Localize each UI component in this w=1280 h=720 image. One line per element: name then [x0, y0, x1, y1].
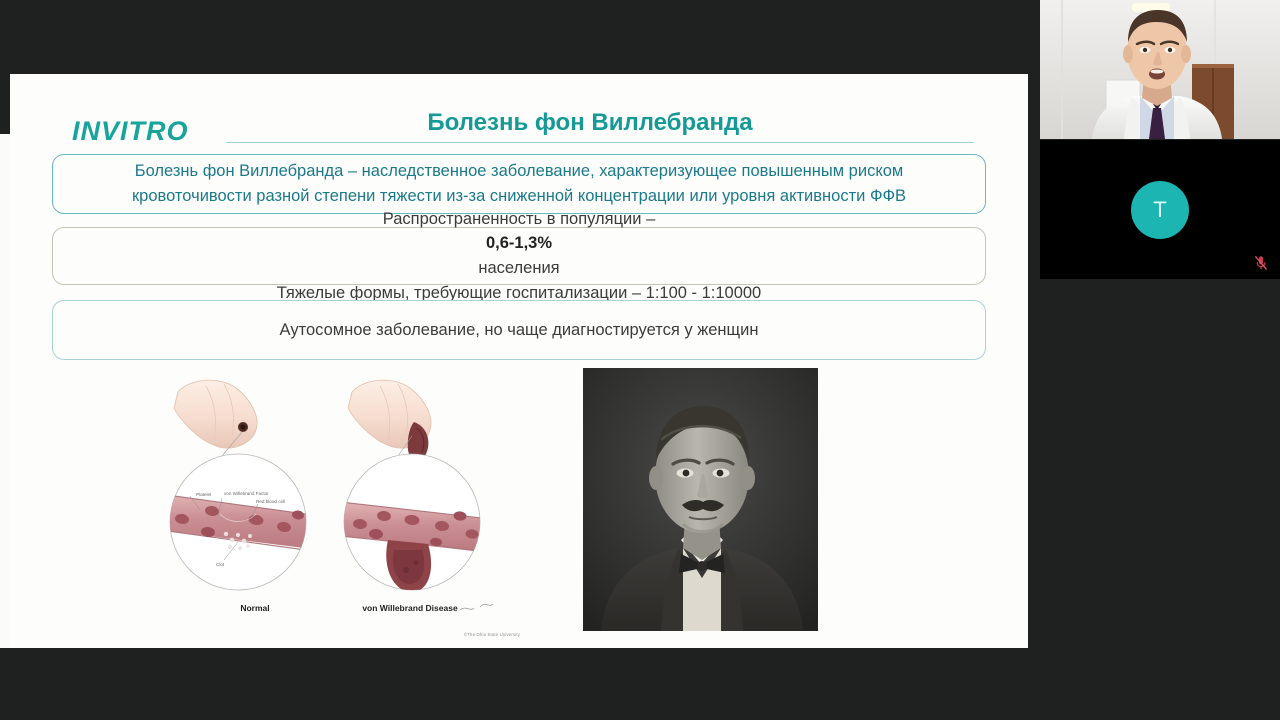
vwd-finger-graphic	[348, 380, 431, 461]
avatar-initial: T	[1153, 197, 1166, 223]
illustration-caption-vwd: von Willebrand Disease	[330, 603, 490, 613]
normal-vessel-closeup	[160, 454, 320, 590]
normal-finger-graphic	[174, 380, 257, 456]
vwd-illustration-svg: Platelet von Willebrand Factor Red blood…	[160, 374, 520, 639]
video-panel: T	[1040, 0, 1280, 280]
definition-line-1: Болезнь фон Виллебранда – наследственное…	[132, 159, 906, 184]
avatar: T	[1131, 181, 1189, 239]
slide-header: INVITRO Болезнь фон Виллебранда	[10, 74, 1028, 144]
vwd-vessel-closeup	[340, 454, 500, 592]
prevalence-value: 0,6-1,3%	[486, 234, 552, 252]
video-tile-participant[interactable]: T	[1040, 140, 1280, 279]
label-clot: Clot	[216, 562, 225, 567]
autosomal-line-1: Аутосомное заболевание, но чаще диагност…	[280, 318, 759, 343]
title-underline-rule	[226, 142, 974, 143]
label-red-blood-cell: Red blood cell	[256, 499, 285, 504]
illustration-caption-normal: Normal	[200, 603, 310, 613]
autosomal-box: Аутосомное заболевание, но чаще диагност…	[52, 300, 986, 360]
prevalence-text-after: населения	[277, 256, 762, 281]
illustration-copyright: ©The Ohio State University	[464, 632, 520, 637]
mic-muted-icon[interactable]	[1254, 255, 1268, 271]
invitro-logo: INVITRO	[72, 116, 189, 147]
prevalence-text-before: Распространенность в популяции –	[277, 207, 762, 232]
prevalence-line-1: Распространенность в популяции – 0,6-1,3…	[277, 207, 762, 281]
label-von-willebrand-factor: von Willebrand Factor	[224, 491, 269, 496]
definition-line-2: кровоточивости разной степени тяжести из…	[132, 184, 906, 209]
slide-left-edge-strip	[0, 134, 10, 648]
vwd-illustration: Platelet von Willebrand Factor Red blood…	[160, 374, 520, 639]
speaker-camera-feed	[1040, 0, 1280, 139]
screen-share-area[interactable]: INVITRO Болезнь фон Виллебранда Болезнь …	[0, 60, 1030, 648]
presentation-slide[interactable]: INVITRO Болезнь фон Виллебранда Болезнь …	[10, 74, 1028, 648]
page-title: Болезнь фон Виллебранда	[210, 109, 970, 137]
portrait-photo-svg	[583, 368, 818, 631]
definition-box: Болезнь фон Виллебранда – наследственное…	[52, 154, 986, 214]
portrait-photo	[583, 368, 818, 631]
video-tile-speaker[interactable]	[1040, 0, 1280, 139]
label-platelet: Platelet	[196, 492, 212, 497]
prevalence-box: Распространенность в популяции – 0,6-1,3…	[52, 227, 986, 285]
